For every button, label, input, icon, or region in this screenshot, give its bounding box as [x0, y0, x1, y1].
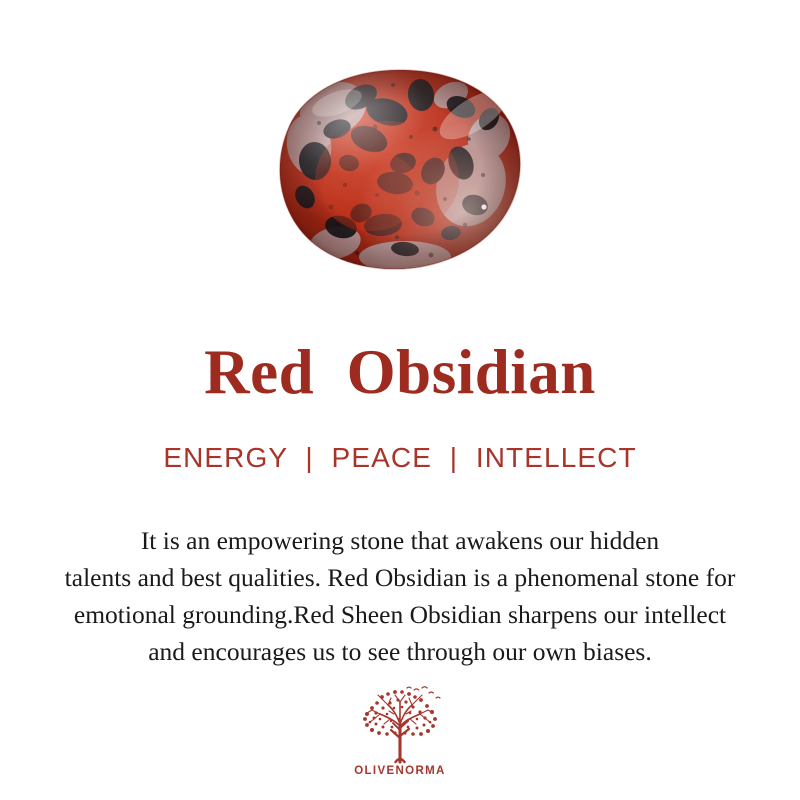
product-image-container [0, 62, 800, 277]
description-line-2: talents and best qualities. Red Obsidian… [18, 559, 782, 596]
product-info-card: Red Obsidian ENERGY | PEACE | INTELLECT … [0, 0, 800, 800]
red-obsidian-stone-image [275, 67, 525, 272]
description-line-3: emotional grounding.Red Sheen Obsidian s… [18, 596, 782, 633]
description-line-4: and encourages us to see through our own… [18, 633, 782, 670]
product-title: Red Obsidian [0, 336, 800, 408]
tree-of-life-icon [354, 686, 446, 764]
product-description: It is an empowering stone that awakens o… [18, 522, 782, 670]
description-line-1: It is an empowering stone that awakens o… [18, 522, 782, 559]
product-properties: ENERGY | PEACE | INTELLECT [0, 441, 800, 475]
brand-logo: OLIVENORMA [0, 686, 800, 777]
brand-name: OLIVENORMA [354, 765, 445, 777]
